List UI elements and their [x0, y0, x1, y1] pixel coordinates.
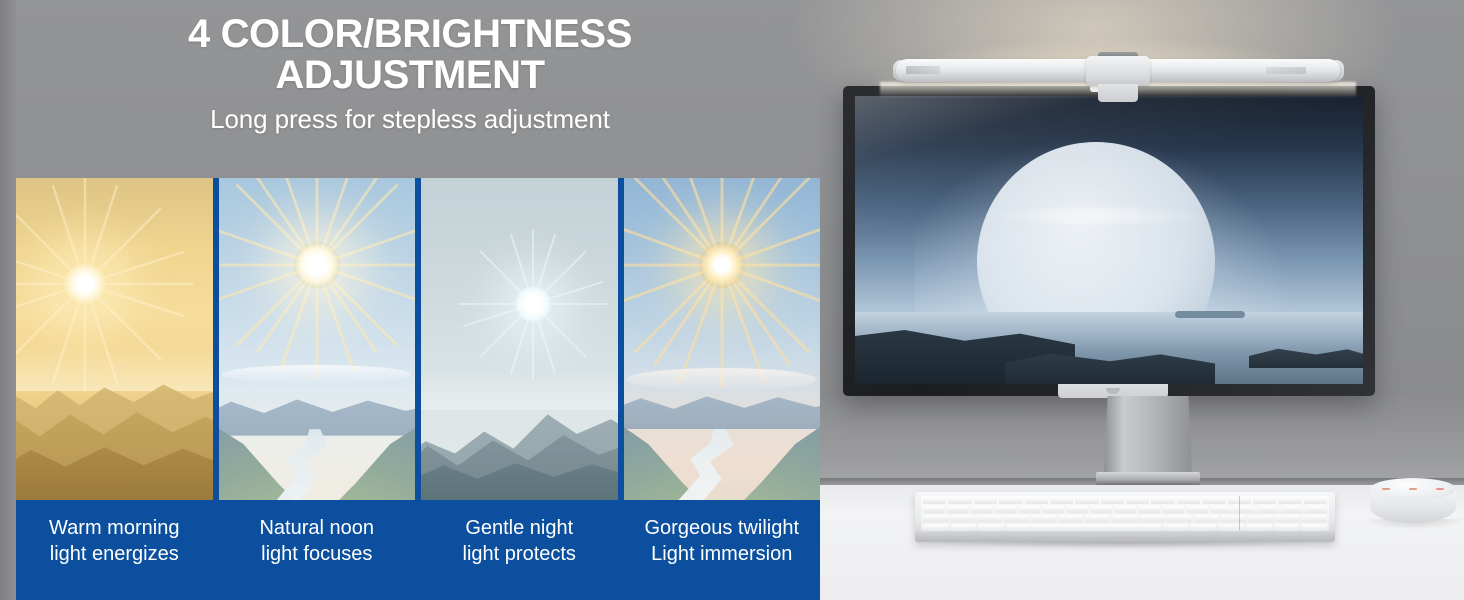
keyboard-row-spacebar: [923, 524, 1327, 531]
monitor-stand-base: [1096, 472, 1200, 485]
keyboard-key: [1186, 506, 1208, 513]
keyboard-spacebar: [1006, 524, 1160, 531]
caption-line-1: Gorgeous twilight: [644, 516, 799, 542]
keyboard-key: [1050, 497, 1073, 504]
keyboard-key: [974, 497, 997, 504]
keyboard-key: [1190, 524, 1216, 531]
panel-gentle-night: Gentle night light protects: [421, 178, 618, 600]
keyboard-key: [1210, 506, 1232, 513]
keyboard-key: [1301, 524, 1327, 531]
keyboard-key: [950, 515, 975, 522]
keyboard-key: [1126, 497, 1149, 504]
monitor-screen: [855, 96, 1363, 384]
keyboard-key: [1151, 497, 1174, 504]
keyboard: [915, 492, 1335, 542]
keyboard-key: [923, 515, 948, 522]
cloud-band: [222, 365, 411, 384]
keyboard-key: [1138, 506, 1160, 513]
panel-warm-morning: Warm morning light energizes: [16, 178, 213, 600]
headline-line-1: 4 COLOR/BRIGHTNESS: [0, 14, 820, 55]
caption-warm-morning: Warm morning light energizes: [16, 500, 213, 600]
caption-line-2: Light immersion: [651, 542, 792, 568]
caption-line-1: Natural noon: [259, 516, 374, 542]
panel-gorgeous-twilight: Gorgeous twilight Light immersion: [624, 178, 821, 600]
keyboard-key: [1274, 524, 1300, 531]
keyboard-key: [1058, 515, 1083, 522]
keyboard-key: [1275, 515, 1300, 522]
caption-line-2: light protects: [463, 542, 576, 568]
keyboard-row-home: [923, 515, 1327, 522]
keyboard-key: [1004, 515, 1029, 522]
keyboard-key: [1066, 506, 1088, 513]
keyboard-row-numbers: [923, 506, 1327, 513]
keyboard-key: [948, 497, 971, 504]
keyboard-key: [1304, 497, 1327, 504]
panel-natural-noon: Natural noon light focuses: [219, 178, 416, 600]
keyboard-key: [1031, 515, 1056, 522]
headline-line-2: ADJUSTMENT: [0, 55, 820, 96]
keyboard-key: [1281, 506, 1303, 513]
keyboard-key: [1248, 515, 1273, 522]
sun-core: [62, 261, 108, 307]
keyboard-key: [1025, 497, 1048, 504]
keyboard-key: [923, 497, 946, 504]
caption-line-1: Warm morning: [49, 516, 179, 542]
caption-gentle-night: Gentle night light protects: [421, 500, 618, 600]
wallpaper-planet-cloud-band: [983, 208, 1211, 224]
headline-block: 4 COLOR/BRIGHTNESS ADJUSTMENT Long press…: [0, 14, 820, 132]
keyboard-key: [999, 497, 1022, 504]
puck-mark: [1436, 488, 1444, 490]
scene-gentle-night: [421, 178, 618, 500]
keyboard-key: [923, 524, 949, 531]
scene-gorgeous-twilight: [624, 178, 821, 500]
keyboard-key: [1305, 506, 1327, 513]
keyboard-key: [1302, 515, 1327, 522]
keyboard-key: [1257, 506, 1279, 513]
monitor-stand-neck: [1104, 396, 1192, 474]
sun-core: [294, 242, 340, 288]
keyboard-key: [951, 524, 977, 531]
sun-core: [513, 284, 553, 324]
cloud-band: [627, 368, 816, 391]
keyboard-key: [1233, 506, 1255, 513]
product-marketing-banner: 4 COLOR/BRIGHTNESS ADJUSTMENT Long press…: [0, 0, 1464, 600]
keyboard-key: [923, 506, 945, 513]
caption-gorgeous-twilight: Gorgeous twilight Light immersion: [624, 500, 821, 600]
color-mode-panel-group: Warm morning light energizes: [16, 178, 820, 600]
puck-mark: [1382, 488, 1390, 490]
caption-natural-noon: Natural noon light focuses: [219, 500, 416, 600]
keyboard-key: [1221, 515, 1246, 522]
keyboard-key: [1194, 515, 1219, 522]
horizon-haze: [421, 371, 618, 410]
keyboard-key: [1101, 497, 1124, 504]
keyboard-row-function: [923, 497, 1327, 504]
caption-line-2: light focuses: [261, 542, 372, 568]
keyboard-key: [1075, 497, 1098, 504]
keyboard-key: [1177, 497, 1200, 504]
sun-core: [699, 242, 745, 288]
keyboard-key: [1167, 515, 1192, 522]
keyboard-key: [1090, 506, 1112, 513]
keyboard-key: [1112, 515, 1137, 522]
caption-line-2: light energizes: [50, 542, 179, 568]
keyboard-key: [1162, 506, 1184, 513]
lightbar-mount-block: [1086, 56, 1150, 86]
keyboard-key: [1019, 506, 1041, 513]
keyboard-key: [1114, 506, 1136, 513]
keyboard-key: [947, 506, 969, 513]
keyboard-key: [1253, 497, 1276, 504]
scene-natural-noon: [219, 178, 416, 500]
scene-warm-morning: [16, 178, 213, 500]
keyboard-key: [1085, 515, 1110, 522]
keyboard-front-edge: [915, 532, 1335, 542]
keyboard-key: [1246, 524, 1272, 531]
keyboard-key: [978, 524, 1004, 531]
lightbar-brand-mark-left: [906, 66, 940, 74]
keyboard-key: [971, 506, 993, 513]
lightbar-hook: [1098, 84, 1138, 102]
lightbar-brand-mark-right: [1266, 67, 1306, 74]
wallpaper-island: [1175, 311, 1245, 318]
keyboard-cluster-divider: [1239, 496, 1240, 530]
keyboard-key: [1163, 524, 1189, 531]
puck-mark: [1409, 488, 1417, 490]
keyboard-key: [1140, 515, 1165, 522]
keyboard-key: [1278, 497, 1301, 504]
keyboard-key: [995, 506, 1017, 513]
keyboard-key: [1042, 506, 1064, 513]
subheadline: Long press for stepless adjustment: [0, 106, 820, 133]
puck-top-markings: [1382, 483, 1444, 494]
caption-line-1: Gentle night: [465, 516, 573, 542]
keyboard-key: [1202, 497, 1225, 504]
horizon-haze: [16, 345, 213, 390]
keyboard-key: [977, 515, 1002, 522]
